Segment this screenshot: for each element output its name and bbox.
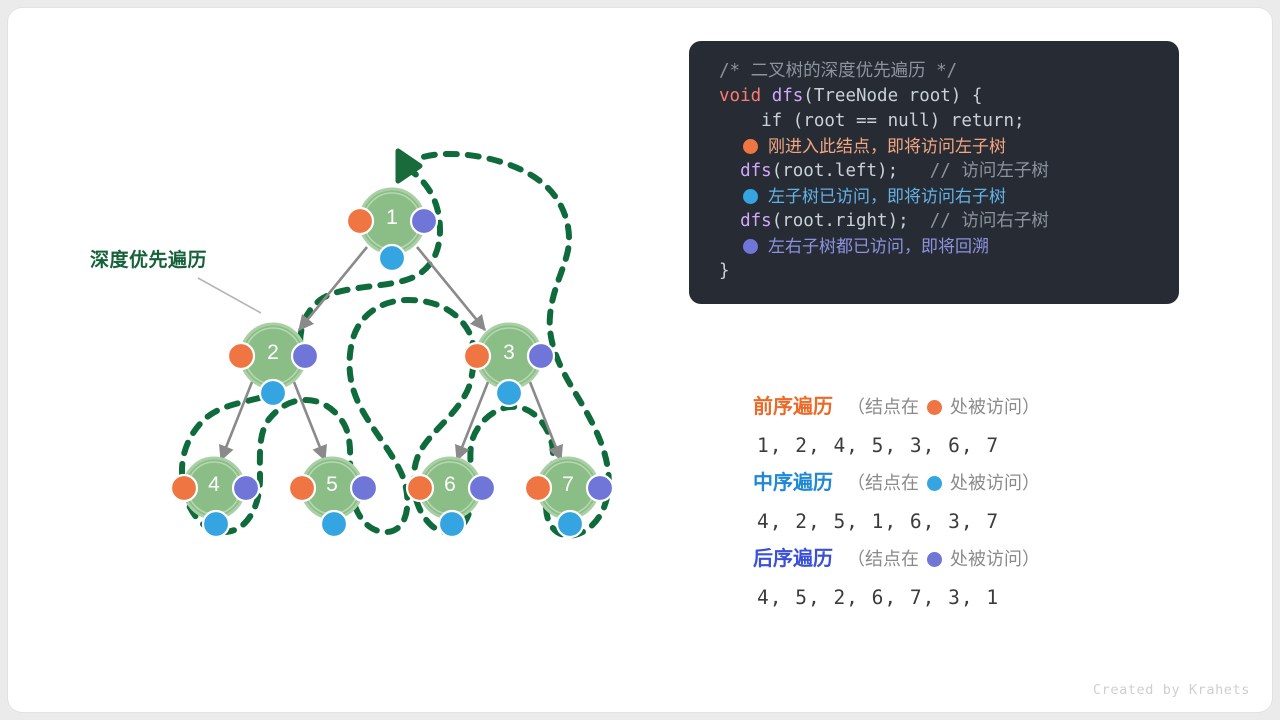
traversal-note: （结点在处被访问） <box>847 474 1040 492</box>
code-comment-line: /* 二叉树的深度优先遍历 */ <box>689 59 1179 84</box>
note-dot-icon <box>743 189 758 204</box>
tree-svg <box>8 8 680 712</box>
edge-3-7 <box>530 382 561 460</box>
tree-node-2[interactable] <box>228 324 318 406</box>
tree-node-7[interactable] <box>525 458 613 537</box>
dfs-annotation-label: 深度优先遍历 <box>90 245 207 272</box>
code-token: if (root == null) return; <box>719 111 1025 131</box>
code-line: dfs(root.right); // 访问右子树 <box>689 209 1179 234</box>
code-token: // 访问右子树 <box>909 211 1049 231</box>
traversal-dot-icon <box>927 476 942 491</box>
traversal-heading: 中序遍历（结点在处被访问） <box>753 466 1173 496</box>
traversal-note-after: 处被访问） <box>950 474 1040 492</box>
traversal-dot-icon <box>927 552 942 567</box>
label-leader-line <box>198 278 261 313</box>
note-text: 刚进入此结点，即将访问左子树 <box>768 134 1006 159</box>
traversal-note-before: （结点在 <box>847 398 919 416</box>
traversal-note: （结点在处被访问） <box>847 398 1040 416</box>
node-dot-pre <box>347 208 373 234</box>
code-token: (root.right); <box>772 211 909 231</box>
tree-node-3[interactable] <box>464 324 554 406</box>
code-token: (root.left); <box>772 161 898 181</box>
traversal-dot-icon <box>927 400 942 415</box>
traversal-results: 前序遍历（结点在处被访问）1, 2, 4, 5, 3, 6, 7中序遍历（结点在… <box>753 390 1173 618</box>
node-dot-post <box>411 208 437 234</box>
code-note-line: 左右子树都已访问，即将回溯 <box>689 234 1179 259</box>
code-token: // 访问左子树 <box>898 161 1049 181</box>
tree-node-5[interactable] <box>289 458 377 537</box>
traversal-sequence: 4, 2, 5, 1, 6, 3, 7 <box>753 510 1173 533</box>
note-text: 左子树已访问，即将访问右子树 <box>768 184 1006 209</box>
traversal-block: 前序遍历（结点在处被访问）1, 2, 4, 5, 3, 6, 7 <box>753 390 1173 457</box>
watermark-credit: Created by Krahets <box>1093 682 1250 698</box>
traversal-sequence: 4, 5, 2, 6, 7, 3, 1 <box>753 586 1173 609</box>
code-token: } <box>719 261 730 281</box>
tree-node-6[interactable] <box>407 458 495 537</box>
traversal-block: 中序遍历（结点在处被访问）4, 2, 5, 1, 6, 3, 7 <box>753 466 1173 533</box>
tree-node-1[interactable] <box>347 189 437 271</box>
traversal-title: 中序遍历 <box>753 466 833 495</box>
code-token: dfs <box>772 86 804 106</box>
tree-nodes <box>171 189 613 537</box>
code-token: (TreeNode root) { <box>803 86 982 106</box>
traversal-note-after: 处被访问） <box>950 550 1040 568</box>
edge-1-3 <box>417 247 485 330</box>
traversal-heading: 后序遍历（结点在处被访问） <box>753 542 1173 572</box>
traversal-note-before: （结点在 <box>847 550 919 568</box>
note-dot-icon <box>743 239 758 254</box>
traversal-note-before: （结点在 <box>847 474 919 492</box>
traversal-title: 后序遍历 <box>753 542 833 571</box>
code-token: dfs <box>719 161 772 181</box>
code-line: if (root == null) return; <box>689 109 1179 134</box>
code-note-line: 刚进入此结点，即将访问左子树 <box>689 134 1179 159</box>
node-dot-in <box>379 245 405 271</box>
traversal-note: （结点在处被访问） <box>847 550 1040 568</box>
code-line: } <box>689 259 1179 284</box>
traversal-heading: 前序遍历（结点在处被访问） <box>753 390 1173 420</box>
traversal-block: 后序遍历（结点在处被访问）4, 5, 2, 6, 7, 3, 1 <box>753 542 1173 609</box>
traversal-title: 前序遍历 <box>753 390 833 419</box>
note-dot-icon <box>743 139 758 154</box>
traversal-note-after: 处被访问） <box>950 398 1040 416</box>
code-note-line: 左子树已访问，即将访问右子树 <box>689 184 1179 209</box>
binary-tree-diagram: 1 2 3 4 5 6 7 深度优先遍历 <box>8 8 680 712</box>
code-line: void dfs(TreeNode root) { <box>689 84 1179 109</box>
edge-2-5 <box>294 382 325 460</box>
traversal-sequence: 1, 2, 4, 5, 3, 6, 7 <box>753 434 1173 457</box>
note-text: 左右子树都已访问，即将回溯 <box>768 234 989 259</box>
code-snippet-card: /* 二叉树的深度优先遍历 */void dfs(TreeNode root) … <box>689 41 1179 304</box>
code-token: void <box>719 86 772 106</box>
code-token: dfs <box>719 211 772 231</box>
edge-2-4 <box>221 382 252 460</box>
code-line: dfs(root.left); // 访问左子树 <box>689 159 1179 184</box>
figure-canvas: 1 2 3 4 5 6 7 深度优先遍历 /* 二叉树的深度优先遍历 */voi… <box>8 8 1272 712</box>
